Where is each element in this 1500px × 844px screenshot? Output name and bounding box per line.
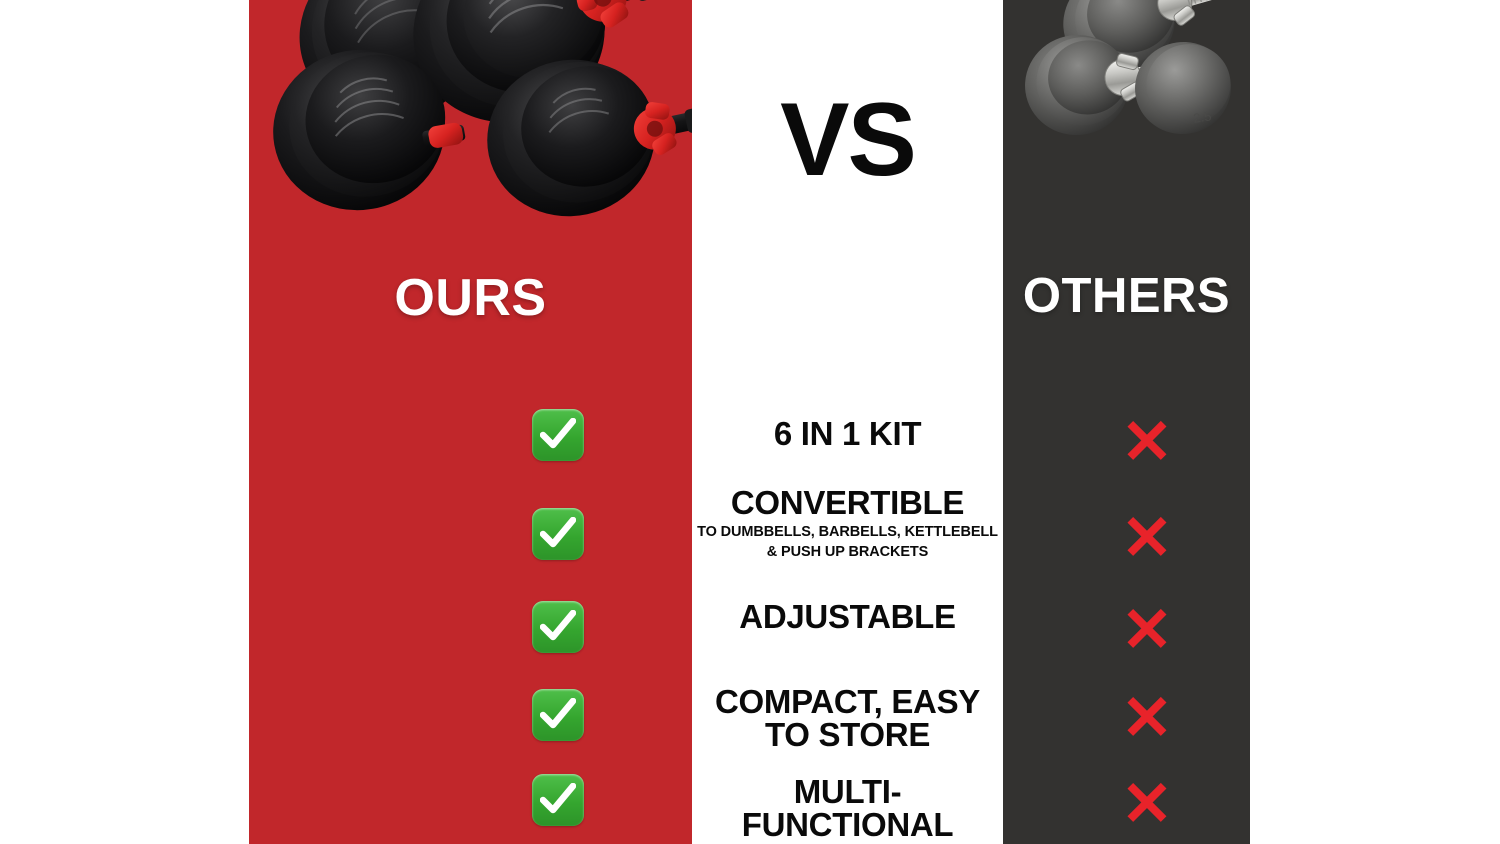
others-cross-1: ✕ bbox=[1113, 409, 1181, 477]
cross-mark-icon: ✕ bbox=[1113, 685, 1181, 753]
others-cross-5: ✕ bbox=[1113, 771, 1181, 839]
feature-title-4: COMPACT, EASY TO STORE bbox=[692, 685, 1003, 751]
feature-row-label-4: COMPACT, EASY TO STORE bbox=[692, 685, 1003, 751]
feature-row-label-3: ADJUSTABLE bbox=[692, 600, 1003, 633]
ours-column-heading: OURS bbox=[249, 272, 692, 324]
others-cross-2: ✕ bbox=[1113, 505, 1181, 573]
ours-check-1 bbox=[532, 409, 588, 465]
check-mark-icon bbox=[532, 601, 584, 653]
check-mark-icon bbox=[532, 774, 584, 826]
ours-check-3 bbox=[532, 601, 588, 657]
feature-row-label-5: MULTI-FUNCTIONAL bbox=[692, 775, 1003, 841]
ours-product-image bbox=[249, 0, 692, 242]
others-cross-4: ✕ bbox=[1113, 685, 1181, 753]
others-cross-3: ✕ bbox=[1113, 597, 1181, 665]
svg-text:2.5: 2.5 bbox=[1192, 108, 1212, 125]
feature-subtitle-2: TO DUMBBELLS, BARBELLS, KETTLEBELL & PUS… bbox=[692, 523, 1003, 562]
ours-column-panel: OURS bbox=[249, 0, 692, 844]
feature-row-label-1: 6 IN 1 KIT bbox=[692, 417, 1003, 450]
feature-title-3: ADJUSTABLE bbox=[692, 600, 1003, 633]
feature-title-1: 6 IN 1 KIT bbox=[692, 417, 1003, 450]
comparison-infographic: OURS bbox=[0, 0, 1500, 844]
check-mark-icon bbox=[532, 689, 584, 741]
others-product-image: 2.5 bbox=[1007, 0, 1247, 185]
ours-check-2 bbox=[532, 508, 588, 564]
cross-mark-icon: ✕ bbox=[1113, 597, 1181, 665]
others-column-heading: OTHERS bbox=[1003, 272, 1250, 321]
vs-label: VS bbox=[692, 88, 1003, 192]
cross-mark-icon: ✕ bbox=[1113, 505, 1181, 573]
ours-check-5 bbox=[532, 774, 588, 830]
feature-row-label-2: CONVERTIBLE TO DUMBBELLS, BARBELLS, KETT… bbox=[692, 486, 1003, 562]
check-mark-icon bbox=[532, 409, 584, 461]
cross-mark-icon: ✕ bbox=[1113, 771, 1181, 839]
cross-mark-icon: ✕ bbox=[1113, 409, 1181, 477]
feature-title-2: CONVERTIBLE bbox=[692, 486, 1003, 519]
feature-title-5: MULTI-FUNCTIONAL bbox=[692, 775, 1003, 841]
ours-check-4 bbox=[532, 689, 588, 745]
check-mark-icon bbox=[532, 508, 584, 560]
